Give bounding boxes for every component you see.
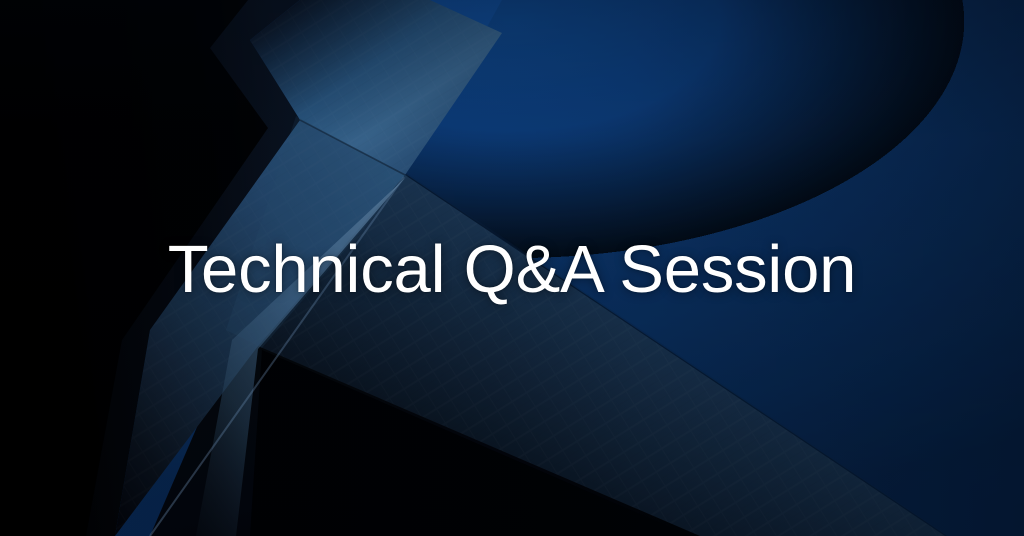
top-vignette	[0, 0, 1024, 536]
background-architecture-svg	[0, 0, 1024, 536]
background-image	[0, 0, 1024, 536]
title-slide: Technical Q&A Session	[0, 0, 1024, 536]
